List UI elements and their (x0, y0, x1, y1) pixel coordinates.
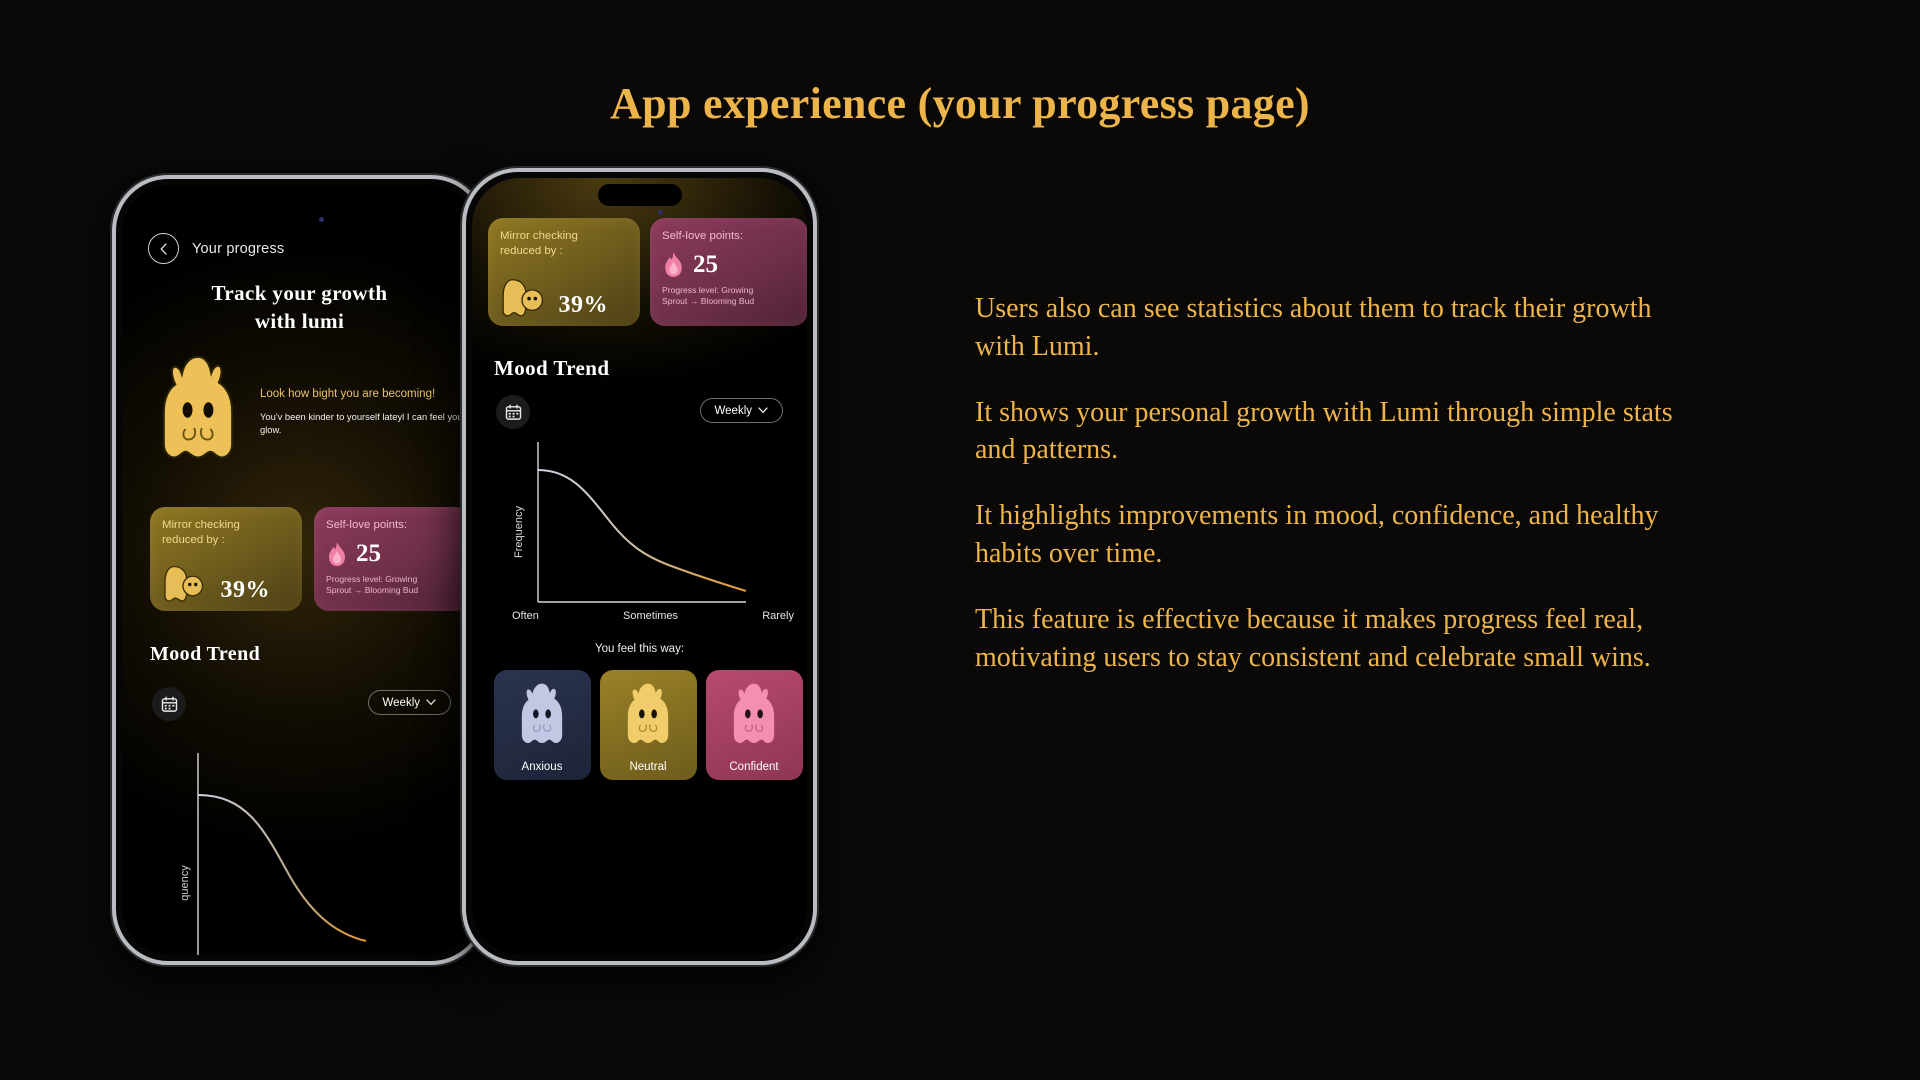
mascot-message-text: Look how bight you are becoming! You'v b… (260, 383, 470, 436)
growth-heading: Track your growth with lumi (122, 280, 477, 336)
phone2-screen: Mirror checking reduced by : 39% (472, 178, 807, 955)
phone2-status-dot (658, 210, 663, 215)
lumi-ghost-pink-icon (726, 680, 782, 750)
phone-mockup-1: Your progress Track your growth with lum… (112, 175, 487, 965)
mirror-card-title: Mirror checking reduced by : (162, 518, 290, 548)
phone1-silent-switch (112, 329, 114, 359)
self-love-footer: Progress level: Growing Sprout → Bloomin… (662, 285, 796, 308)
phone1-notch (258, 191, 342, 213)
self-love-value: 25 (356, 540, 381, 568)
self-love-card[interactable]: Self-love points: 25 Progress level: Gro… (650, 218, 807, 326)
lumi-ghost-mirror-icon (160, 562, 206, 604)
mood-label-neutral: Neutral (600, 761, 697, 773)
mood-label-anxious: Anxious (494, 761, 591, 773)
lumi-ghost-yellow-icon (150, 353, 246, 467)
mood-trend-heading: Mood Trend (494, 356, 609, 381)
phone1-header: Your progress (148, 233, 284, 264)
mood-label-confident: Confident (706, 761, 803, 773)
phone2-silent-switch (462, 320, 464, 350)
phone1-volume-up (112, 379, 114, 431)
phone1-volume-down (112, 443, 114, 495)
self-love-value: 25 (693, 251, 718, 279)
feel-prompt-label: You feel this way: (472, 643, 807, 655)
mirror-card-value: 39% (221, 577, 271, 604)
self-love-footer-line2: Sprout → Blooming Bud (662, 296, 796, 308)
phone2-volume-up (462, 370, 464, 422)
self-love-footer-line1: Progress level: Growing (326, 574, 458, 586)
mood-card-neutral[interactable]: Neutral (600, 670, 697, 780)
chevron-left-icon (158, 243, 170, 255)
mascot-message-block: Look how bight you are becoming! You'v b… (150, 353, 470, 467)
phone2-volume-down (462, 434, 464, 486)
self-love-footer-line2: Sprout → Blooming Bud (326, 585, 458, 597)
mirror-card-title-line2: reduced by : (162, 533, 290, 548)
x-tick-often: Often (512, 610, 539, 622)
calendar-button[interactable] (496, 395, 530, 429)
copy-paragraph-1: Users also can see statistics about them… (975, 290, 1675, 366)
x-tick-sometimes: Sometimes (623, 610, 678, 622)
weekly-dropdown[interactable]: Weekly (700, 398, 784, 423)
lumi-ghost-mirror-icon (498, 275, 546, 319)
calendar-button[interactable] (152, 687, 186, 721)
mirror-card-title-line1: Mirror checking (162, 518, 290, 533)
description-copy: Users also can see statistics about them… (975, 290, 1675, 704)
chart2-x-tick-labels: Often Sometimes Rarely (502, 610, 802, 622)
phone2-notch (598, 184, 682, 206)
self-love-footer-line1: Progress level: Growing (662, 285, 796, 297)
chart2-y-label: Frequency (513, 506, 525, 558)
weekly-dropdown-label: Weekly (383, 697, 421, 709)
self-love-title: Self-love points: (662, 229, 796, 244)
chart2-curve (538, 470, 746, 591)
phone1-screen: Your progress Track your growth with lum… (122, 185, 477, 955)
mood-option-cards: Anxious Neutral (488, 670, 807, 780)
copy-paragraph-4: This feature is effective because it mak… (975, 601, 1675, 677)
calendar-icon (161, 696, 178, 713)
calendar-icon (505, 404, 522, 421)
mirror-card-value: 39% (559, 292, 609, 319)
copy-paragraph-2: It shows your personal growth with Lumi … (975, 394, 1675, 470)
mood-card-anxious[interactable]: Anxious (494, 670, 591, 780)
mascot-subtext: You'v been kinder to yourself lateyl I c… (260, 411, 470, 436)
slide-root: App experience (your progress page) Your… (0, 0, 1920, 1080)
mirror-card-title: Mirror checking reduced by : (500, 229, 628, 259)
chart1-curve (198, 795, 366, 941)
phone1-status-dot (319, 217, 324, 222)
x-tick-rarely: Rarely (762, 610, 794, 622)
flame-icon (326, 541, 348, 567)
growth-heading-line1: Track your growth (122, 280, 477, 308)
chevron-down-icon (426, 699, 436, 706)
mirror-checking-card[interactable]: Mirror checking reduced by : 39% (150, 507, 302, 611)
mirror-checking-card[interactable]: Mirror checking reduced by : 39% (488, 218, 640, 326)
mascot-headline: Look how bight you are becoming! (260, 387, 470, 402)
phone1-stat-cards: Mirror checking reduced by : 39% (150, 507, 470, 611)
lumi-ghost-yellow-icon (620, 680, 676, 750)
self-love-card[interactable]: Self-love points: 25 Progress level: Gro… (314, 507, 470, 611)
phone2-stat-cards: Mirror checking reduced by : 39% (488, 218, 807, 326)
mood-trend-heading: Mood Trend (150, 643, 260, 666)
mood-trend-chart-2: Frequency (488, 436, 807, 611)
weekly-dropdown[interactable]: Weekly (368, 690, 452, 715)
mirror-card-title-line2: reduced by : (500, 244, 628, 259)
chart1-y-label: quency (179, 865, 191, 901)
lumi-ghost-blue-icon (514, 680, 570, 750)
growth-heading-line2: with lumi (122, 308, 477, 336)
mood-card-confident[interactable]: Confident (706, 670, 803, 780)
mood-trend-chart-1: quency (156, 733, 456, 955)
weekly-dropdown-label: Weekly (715, 405, 753, 417)
page-title: App experience (your progress page) (0, 78, 1920, 129)
self-love-title: Self-love points: (326, 518, 458, 533)
flame-icon (662, 251, 685, 278)
self-love-footer: Progress level: Growing Sprout → Bloomin… (326, 574, 458, 597)
phone-mockup-2: Mirror checking reduced by : 39% (462, 168, 817, 965)
chevron-down-icon (758, 407, 768, 414)
mirror-card-title-line1: Mirror checking (500, 229, 628, 244)
header-title: Your progress (192, 241, 284, 257)
back-button[interactable] (148, 233, 179, 264)
copy-paragraph-3: It highlights improvements in mood, conf… (975, 497, 1675, 573)
